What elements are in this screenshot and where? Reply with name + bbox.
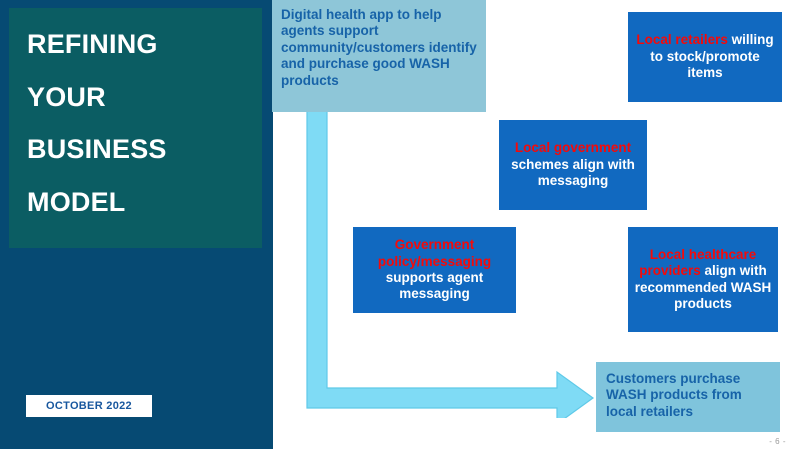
- node-government-policy[interactable]: Government policy/messaging supports age…: [353, 227, 516, 313]
- title-line-1: REFINING: [27, 18, 252, 71]
- node-local-retailers-highlight: Local retailers: [636, 32, 728, 47]
- date-badge: OCTOBER 2022: [26, 395, 152, 417]
- node-local-retailers[interactable]: Local retailers willing to stock/promote…: [628, 12, 782, 102]
- node-local-government-text: Local government schemes align with mess…: [499, 140, 647, 189]
- node-local-government[interactable]: Local government schemes align with mess…: [499, 120, 647, 210]
- node-customers-purchase-text: Customers purchase WASH products from lo…: [596, 362, 780, 420]
- page-title: REFINING YOUR BUSINESS MODEL: [27, 18, 252, 229]
- node-local-healthcare-providers[interactable]: Local healthcare providers align with re…: [628, 227, 778, 332]
- node-government-policy-text: Government policy/messaging supports age…: [353, 237, 516, 303]
- node-government-policy-highlight: Government policy/messaging: [378, 237, 491, 268]
- date-badge-label: OCTOBER 2022: [46, 400, 132, 412]
- left-title-panel: REFINING YOUR BUSINESS MODEL OCTOBER 202…: [0, 0, 273, 449]
- node-government-policy-rest: supports agent messaging: [386, 270, 484, 301]
- node-digital-health-app[interactable]: Digital health app to help agents suppor…: [272, 0, 486, 112]
- title-line-4: MODEL: [27, 176, 252, 229]
- slide-canvas: REFINING YOUR BUSINESS MODEL OCTOBER 202…: [0, 0, 800, 449]
- node-local-government-highlight: Local government: [515, 140, 631, 155]
- node-digital-health-app-text: Digital health app to help agents suppor…: [272, 0, 486, 89]
- title-box: REFINING YOUR BUSINESS MODEL: [9, 8, 262, 248]
- node-local-retailers-text: Local retailers willing to stock/promote…: [628, 32, 782, 81]
- title-line-3: BUSINESS: [27, 123, 252, 176]
- node-local-healthcare-providers-text: Local healthcare providers align with re…: [628, 247, 778, 313]
- diagram-area: Digital health app to help agents suppor…: [273, 0, 800, 449]
- node-customers-purchase[interactable]: Customers purchase WASH products from lo…: [596, 362, 780, 432]
- page-number: - 6 -: [769, 437, 786, 446]
- title-line-2: YOUR: [27, 71, 252, 124]
- node-local-government-rest: schemes align with messaging: [511, 157, 635, 188]
